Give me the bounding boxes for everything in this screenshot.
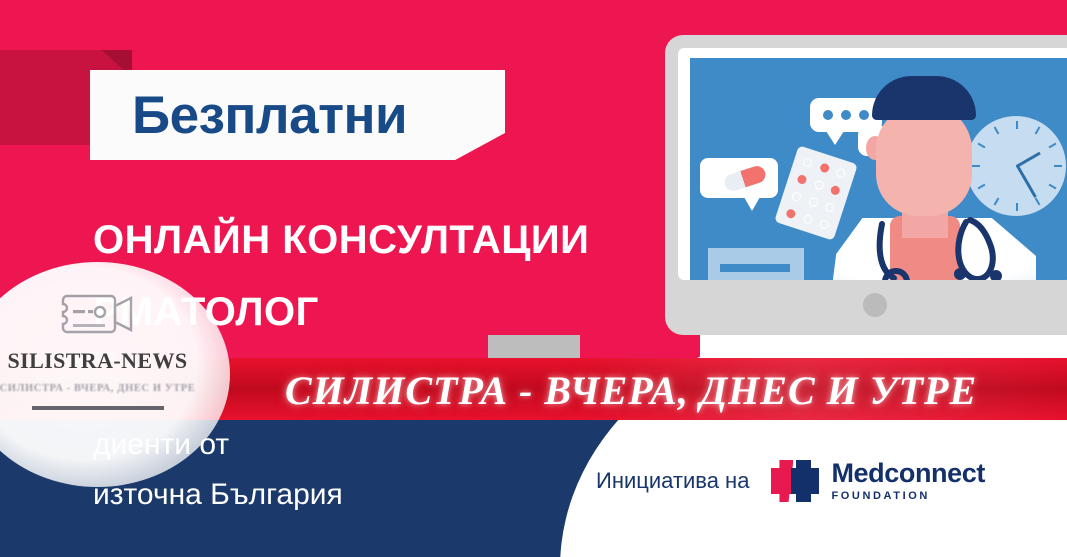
doctor-avatar-icon: [820, 76, 1050, 280]
document-icon: [708, 248, 804, 280]
stethoscope-icon: [820, 76, 1050, 280]
page-title-line1: ОНЛАЙН КОНСУЛТАЦИИ: [93, 218, 589, 263]
medical-cross-icon: [771, 458, 819, 504]
headline-banner: Безплатни: [90, 70, 505, 160]
video-call-screen: [690, 58, 1067, 280]
white-panel-extension: [700, 318, 1067, 557]
watermark-name: SILISTRA-NEWS: [7, 348, 187, 374]
monitor-screen-frame: [678, 48, 1067, 280]
news-ribbon-label: СИЛИСТРА - ВЧЕРА, ДНЕС И УТРЕ: [285, 367, 977, 414]
initiative-label: Инициатива на: [596, 468, 749, 494]
desktop-monitor-icon: [665, 35, 1067, 335]
promo-banner: Безплатни ОНЛАЙН КОНСУЛТАЦИИ РМАТОЛОГ ди…: [0, 0, 1067, 557]
initiative-row: Инициатива на Medconnect FOUNDATION: [596, 458, 985, 504]
monitor-power-button: [863, 293, 887, 317]
headline-banner-label: Безплатни: [132, 89, 407, 142]
medconnect-logo: Medconnect FOUNDATION: [771, 458, 985, 504]
video-camera-icon: [59, 288, 137, 340]
logo-subtitle: FOUNDATION: [831, 490, 985, 502]
watermark-rule: [32, 406, 164, 410]
logo-name: Medconnect: [831, 460, 985, 487]
watermark-subtitle: СИЛИСТРА - ВЧЕРА, ДНЕС И УТРЕ: [0, 383, 195, 394]
pill-capsule-icon: [700, 158, 778, 198]
